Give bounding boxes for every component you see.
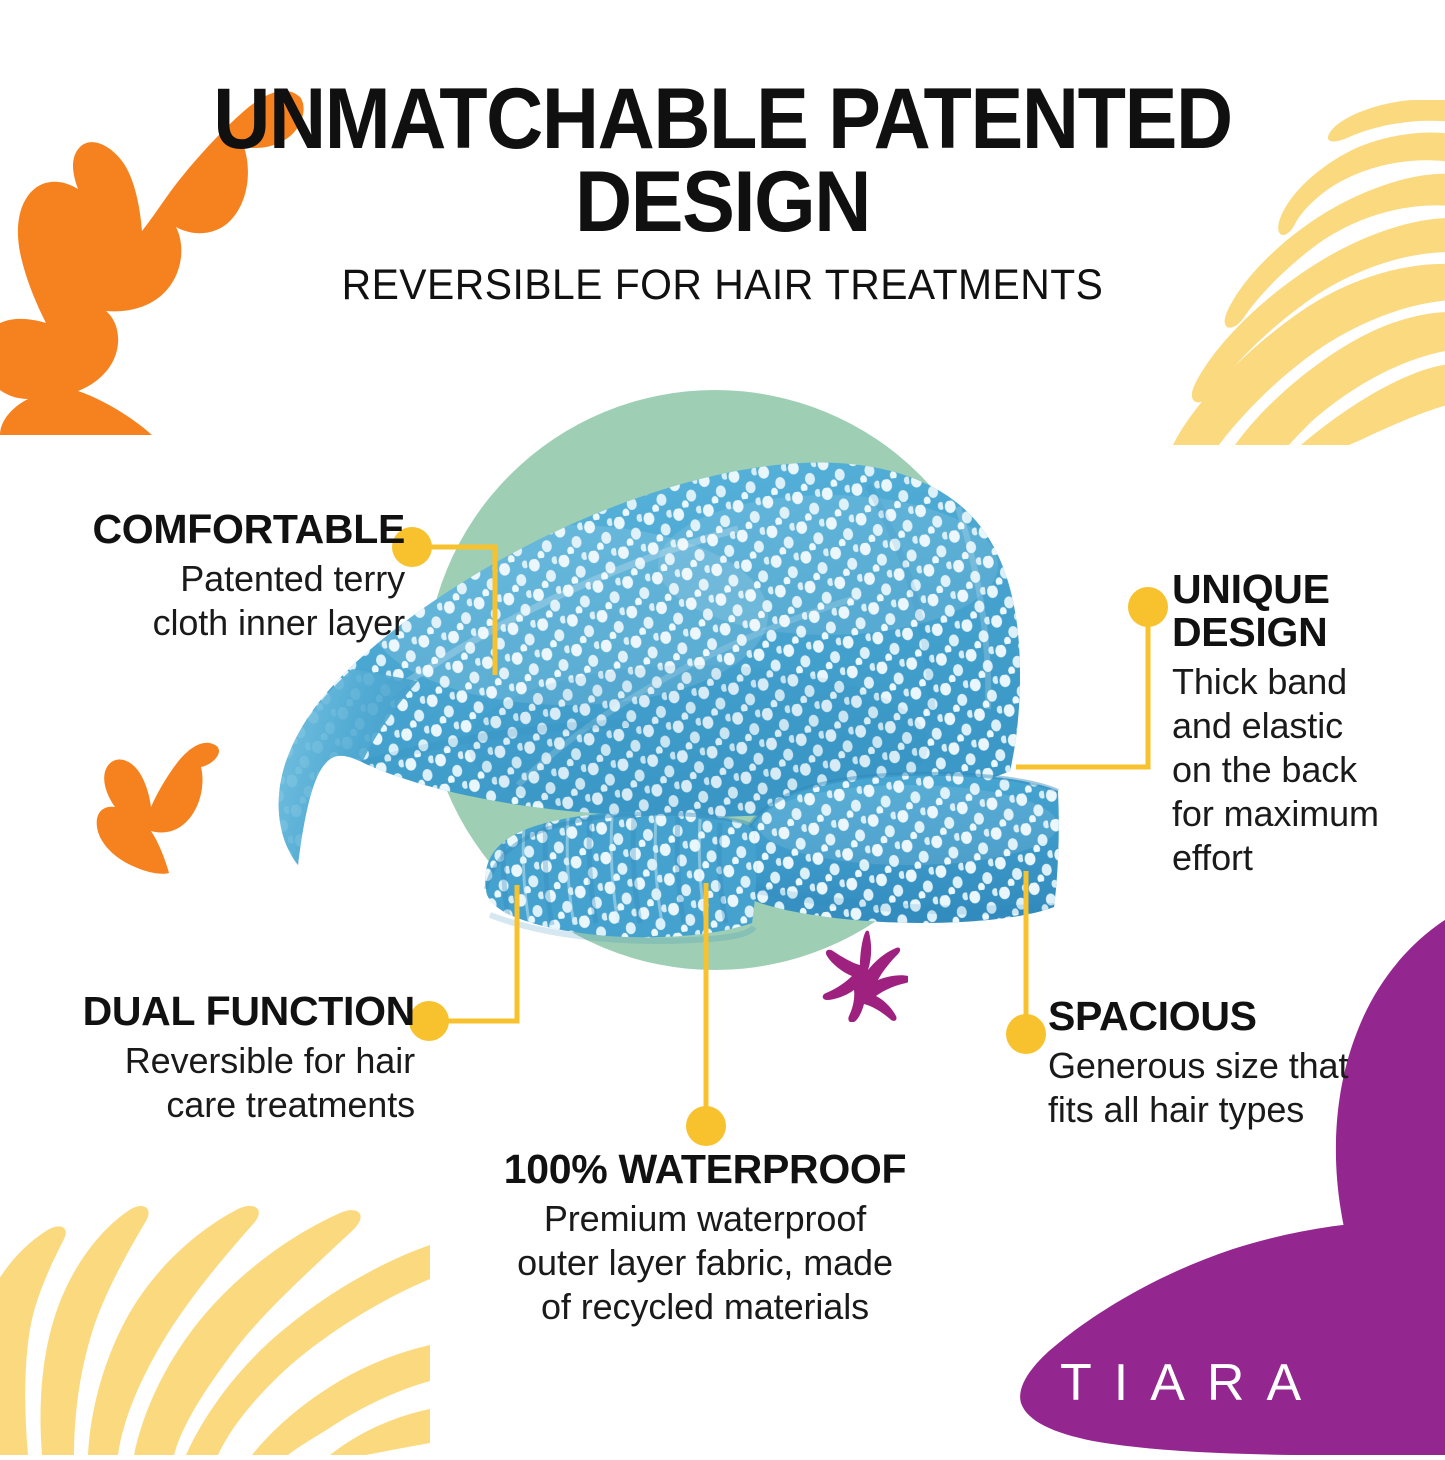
callout-spacious: SPACIOUS Generous size that fits all hai… [1048, 995, 1388, 1132]
callout-body: Patented terry cloth inner layer [35, 557, 405, 645]
connector-unique-design [1008, 585, 1178, 785]
callout-title: COMFORTABLE [35, 508, 405, 551]
callout-title: UNIQUE DESIGN [1172, 568, 1434, 654]
callout-body: Reversible for hair care treatments [30, 1039, 415, 1127]
infographic-canvas: UNMATCHABLE PATENTED DESIGN REVERSIBLE F… [0, 0, 1445, 1445]
callout-unique-design: UNIQUE DESIGN Thick band and elastic on … [1172, 568, 1434, 880]
brand-logo: TIARA [1060, 1352, 1420, 1414]
callout-title: SPACIOUS [1048, 995, 1388, 1038]
callout-title: 100% WATERPROOF [455, 1148, 955, 1191]
page-title: UNMATCHABLE PATENTED DESIGN [58, 78, 1387, 243]
callout-waterproof: 100% WATERPROOF Premium waterproof outer… [455, 1148, 955, 1329]
callout-title: DUAL FUNCTION [30, 990, 415, 1033]
connector-dual-function [405, 875, 555, 1050]
page-subtitle: REVERSIBLE FOR HAIR TREATMENTS [36, 261, 1409, 310]
callout-body: Generous size that fits all hair types [1048, 1044, 1388, 1132]
connector-spacious [1005, 865, 1049, 1065]
callout-comfortable: COMFORTABLE Patented terry cloth inner l… [35, 508, 405, 645]
orange-small-leaf-icon [95, 735, 225, 875]
yellow-palm-frond-icon [0, 1175, 430, 1455]
callout-body: Thick band and elastic on the back for m… [1172, 660, 1434, 880]
connector-waterproof [685, 875, 729, 1150]
brand-logo-text: TIARA [1060, 1352, 1420, 1414]
callout-dual-function: DUAL FUNCTION Reversible for hair care t… [30, 990, 415, 1127]
purple-star-flower-icon [822, 930, 908, 1022]
header: UNMATCHABLE PATENTED DESIGN REVERSIBLE F… [0, 78, 1445, 310]
callout-body: Premium waterproof outer layer fabric, m… [455, 1197, 955, 1329]
